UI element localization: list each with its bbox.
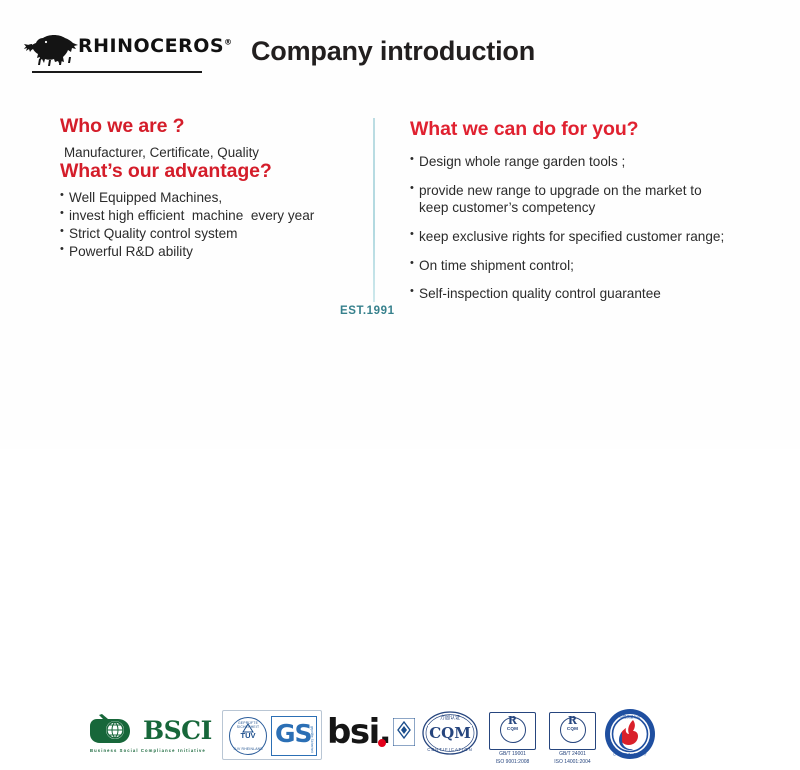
established-label: EST.1991 [340,305,395,317]
tuv-seal-icon: GEPRÜFTE SICHERHEIT TÜV TUV RHEINLAND [229,717,267,755]
cqm-iso14001-mark: R CQM GB/T 24001 ISO 14001:2004 [549,712,596,770]
certification-strip: BSCI Business Social Compliance Initiati… [0,350,800,428]
who-we-are-heading: Who we are ? [60,115,360,138]
logo-underline [32,71,202,73]
bsi-logo: bsi. [327,712,419,758]
advantage-list: Well Equipped Machines, invest high effi… [60,189,360,261]
what-we-can-do-heading: What we can do for you? [410,118,780,141]
list-item: Strict Quality control system [60,225,360,243]
bsi-kitemark-icon [393,718,415,746]
standard-iso-label: ISO 14001:2004 [549,759,596,765]
svg-text:CQM: CQM [429,724,471,742]
who-we-are-subtitle: Manufacturer, Certificate, Quality [64,145,360,160]
gs-mark-icon: GS geprüfte Sicherheit [271,716,317,756]
tuv-wordmark: TÜV [230,731,266,740]
brand-wordmark: RHINOCEROS® [78,35,233,57]
svg-text:CERTIFICATION: CERTIFICATION [427,747,473,752]
registered-mark: ® [224,38,233,47]
gs-sublabel: geprüfte Sicherheit [310,726,314,753]
cqm-logo: CQM 方圆认证 CERTIFICATION [420,710,482,758]
right-column: What we can do for you? Design whole ran… [410,118,780,314]
bsci-logo: BSCI Business Social Compliance Initiati… [88,712,220,760]
list-item: provide new range to upgrade on the mark… [410,182,780,217]
rhino-icon [22,30,84,70]
svg-text:中国质量认证: 中国质量认证 [619,714,641,719]
cqm-sublabel: CQM [549,726,596,731]
bsci-wordmark: BSCI [143,716,212,745]
cqm-iso9001-mark: R CQM GB/T 19001 ISO 9001:2008 [489,712,536,770]
cqm-seal-icon: CQM 方圆认证 CERTIFICATION [420,710,480,756]
svg-text:方圆认证: 方圆认证 [440,714,460,721]
list-item: On time shipment control; [410,257,780,275]
column-divider [373,118,375,302]
standard-gb-label: GB/T 19001 [489,751,536,757]
list-item: Self-inspection quality control guarante… [410,285,780,303]
standard-iso-label: ISO 9001:2008 [489,759,536,765]
list-item: keep exclusive rights for specified cust… [410,228,780,246]
tuv-gs-logo: GEPRÜFTE SICHERHEIT TÜV TUV RHEINLAND GS… [222,710,322,760]
list-item: Design whole range garden tools ; [410,153,780,171]
hand-globe-icon [88,712,140,746]
gs-wordmark: GS [275,719,312,748]
blue-circular-flame-seal-icon: 中国质量认证 CHINA QUALITY CERT [604,708,656,760]
china-quality-seal: 中国质量认证 CHINA QUALITY CERT [604,708,656,760]
standard-gb-label: GB/T 24001 [549,751,596,757]
list-item: Well Equipped Machines, [60,189,360,207]
list-item: invest high efficient machine every year [60,207,360,225]
left-column: Who we are ? Manufacturer, Certificate, … [60,115,360,261]
advantage-heading: What’s our advantage? [60,160,360,183]
page-title: Company introduction [251,36,535,67]
list-item: Powerful R&D ability [60,243,360,261]
brand-logo: RHINOCEROS® [22,30,212,78]
services-list: Design whole range garden tools ; provid… [410,153,780,303]
tuv-arc-bottom: TUV RHEINLAND [230,747,266,751]
bsci-tagline: Business Social Compliance Initiative [90,748,206,753]
bsi-red-dot-icon [378,739,386,747]
slide-root: { "brand": { "logo_icon": "rhino-icon", … [0,0,800,449]
cqm-sublabel: CQM [489,726,536,731]
svg-text:CHINA QUALITY CERT: CHINA QUALITY CERT [613,753,647,757]
